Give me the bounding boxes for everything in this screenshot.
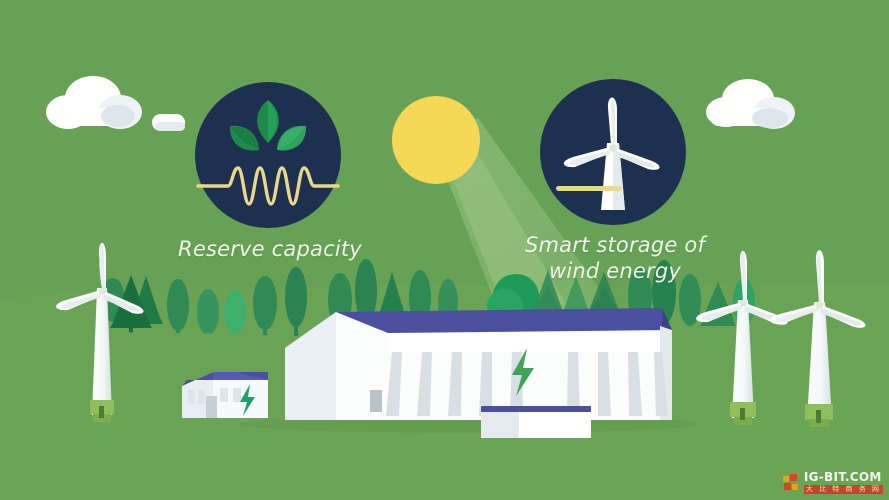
ig-bit-logo-icon	[783, 474, 800, 491]
watermark-text: IG-BIT.COM 大 比 特 商 务 网	[804, 471, 883, 494]
cloud-left-small	[152, 114, 185, 131]
watermark-title: IG-BIT.COM	[804, 471, 883, 483]
watermark: IG-BIT.COM 大 比 特 商 务 网	[783, 471, 883, 494]
battery-container-unit	[481, 406, 591, 438]
sun	[392, 96, 480, 184]
illustration-scene: Reserve capacity Smart storage of wind e…	[0, 0, 889, 500]
storage-warehouse-building	[285, 308, 672, 420]
reserve-capacity-icon-circle[interactable]	[195, 82, 341, 228]
reserve-capacity-label: Reserve capacity	[165, 237, 375, 263]
smart-storage-label: Smart storage of wind energy	[505, 233, 725, 284]
smart-storage-icon-circle[interactable]	[540, 79, 686, 225]
watermark-subtitle: 大 比 特 商 务 网	[804, 485, 883, 494]
power-line	[556, 186, 622, 191]
scenery-layer	[0, 0, 889, 500]
